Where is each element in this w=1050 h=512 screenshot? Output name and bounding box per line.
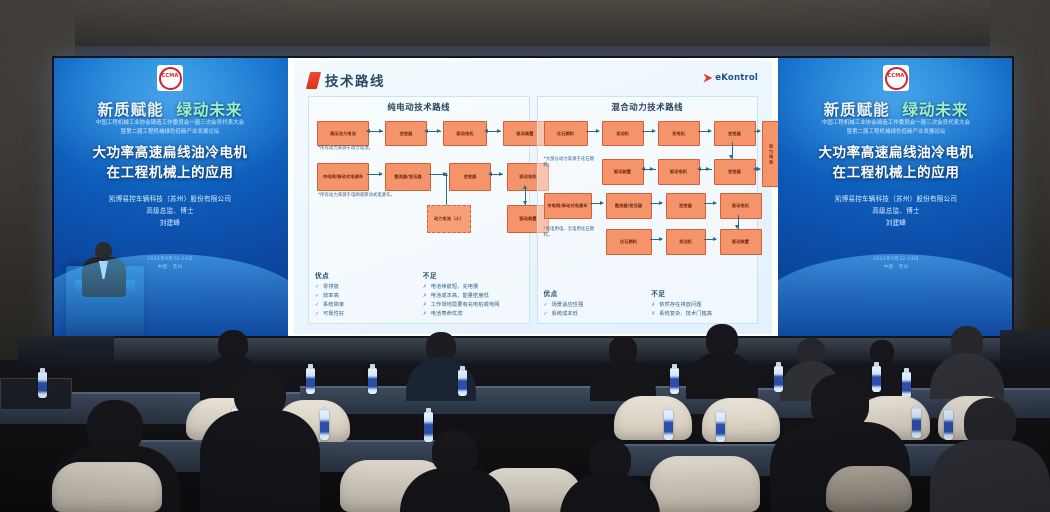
flow-box: 逆变器 (385, 121, 427, 146)
list-item: ✓效率高 (315, 292, 415, 301)
cons-heading: 不足 (423, 270, 523, 280)
slide-panel-pure-electric: 纯电动技术路线 高压动力电池 逆变器 驱动电机 驱动装置 (308, 96, 530, 324)
event-headline-right: 新质赋能 绿动未来 (778, 98, 1014, 120)
flow-box: 逆变器 (449, 163, 491, 191)
water-bottle (368, 368, 377, 394)
headline-part2-left: 绿动未来 (176, 101, 242, 119)
audience-person-foreground (930, 398, 1050, 512)
list-item: ✗电池成本高、能量密度低 (423, 292, 523, 301)
water-bottle (458, 370, 467, 396)
speaker-role-right: 高级总监、博士 (784, 205, 1008, 215)
event-date-right: 2024年9月22-24日 (778, 256, 1014, 262)
talk-title-line1-right: 大功率高速扁线油冷电机 (818, 145, 973, 161)
audience-person-foreground (200, 368, 320, 512)
pros-heading: 优点 (544, 288, 644, 298)
panel-heading-hybrid: 混合动力技术路线 (544, 101, 752, 113)
flow-box: 整流器/变压器 (385, 163, 431, 191)
flow-note: *所有动力来源于电网或移动式电源车。 (318, 193, 413, 199)
flow-box: 高压动力电池 (317, 121, 369, 146)
talk-title-line2-left: 在工程机械上的应用 (107, 165, 234, 181)
list-item: ✗系统复杂、技术门槛高 (651, 310, 751, 319)
slide-title-mark-icon (306, 72, 321, 89)
side-panel-left: CCMA 新质赋能 绿动未来 中国工程机械工业协会铸造工作委员会一届三次会员代表… (52, 56, 288, 338)
chair (52, 462, 162, 512)
list-item: ✗工作场地需要有充电桩或电网 (423, 301, 523, 310)
speaker-silhouette (82, 242, 126, 294)
flow-box: 驱动装置 (720, 229, 762, 255)
talk-title-right: 大功率高速扁线油冷电机 在工程机械上的应用 (778, 144, 1014, 183)
flow-note: *所有动力来源于动力电池。 (318, 146, 373, 152)
speaker-role-left: 高级总监、博士 (58, 205, 282, 215)
list-item: ✗电池续航短、充电慢 (423, 283, 523, 292)
side-panel-right: CCMA 新质赋能 绿动未来 中国工程机械工业协会铸造工作委员会一届三次会员代表… (778, 56, 1014, 338)
headline-part1-left: 新质赋能 (98, 101, 164, 119)
led-screen: CCMA 新质赋能 绿动未来 中国工程机械工业协会铸造工作委员会一届三次会员代表… (52, 56, 1014, 338)
audience-person (686, 324, 758, 396)
cons-column: 不足 ✗电池续航短、充电慢 ✗电池成本高、能量密度低 ✗工作场地需要有充电桩或电… (423, 270, 523, 319)
chair (614, 396, 692, 440)
cons-heading: 不足 (651, 288, 751, 298)
audience-person (930, 326, 1004, 396)
stage-monitor (18, 336, 114, 370)
flow-pure-electric: 高压动力电池 逆变器 驱动电机 驱动装置 *所有动力来源于动力电池 (315, 117, 523, 255)
list-item: ✓系统简单 (315, 301, 415, 310)
slide-panel-hybrid: 混合动力技术路线 化石燃料 发动机 发电机 逆变器 动力电池 (537, 96, 759, 324)
event-place-left: 中国 · 苏州 (52, 264, 288, 270)
ccma-logo-text-left: CCMA (161, 69, 180, 83)
event-subtitle2-left: 暨第二届工程机械绿色低碳产业发展论坛 (60, 128, 280, 136)
ccma-logo-left: CCMA (157, 65, 183, 91)
flow-hybrid: 化石燃料 发动机 发电机 逆变器 动力电池 驱动装置 (544, 117, 752, 255)
pros-column: 优点 ✓场景适应性强 ✓系统成本低 (544, 288, 644, 319)
talk-title-left: 大功率高速扁线油冷电机 在工程机械上的应用 (52, 144, 288, 183)
speaker-org-right: 凯博易控车辆科技（苏州）股份有限公司 (784, 193, 1008, 203)
ekontrol-wordmark: eKontrol (715, 73, 758, 83)
chair (702, 398, 780, 442)
flow-box: 逆变器 (666, 193, 706, 219)
ccma-logo-text-right: CCMA (887, 69, 906, 83)
event-headline-left: 新质赋能 绿动未来 (52, 98, 288, 120)
list-item: ✓场景适应性强 (544, 301, 644, 310)
flow-note: *大部分动力来源于化石燃料。 (544, 157, 596, 169)
event-subtitle1-right: 中国工程机械工业协会铸造工作委员会一届三次会员代表大会 (786, 119, 1006, 127)
ccma-logo-right: CCMA (883, 65, 909, 91)
water-bottle (716, 412, 725, 442)
audience-person (590, 336, 656, 396)
pros-column: 优点 ✓零排放 ✓效率高 ✓系统简单 ✓可靠性好 (315, 270, 415, 319)
audience-person-foreground (560, 440, 660, 512)
water-bottle (670, 368, 679, 394)
flow-box: 发电机 (658, 121, 700, 146)
headline-part2-right: 绿动未来 (902, 101, 968, 119)
conference-photo: CCMA 新质赋能 绿动未来 中国工程机械工业协会铸造工作委员会一届三次会员代表… (0, 0, 1050, 512)
ekontrol-logo: eKontrol (703, 73, 758, 83)
flow-box: 驱动装置 (602, 159, 644, 185)
event-subtitle2-right: 暨第二届工程机械绿色低碳产业发展论坛 (786, 128, 1006, 136)
podium (66, 266, 144, 338)
flow-box: 逆变器 (714, 159, 756, 185)
presentation-slide: 技术路线 eKontrol 纯电动技术路线 高压动力电池 (288, 56, 778, 338)
list-item: ✗依然存在排放问题 (651, 301, 751, 310)
chair (650, 456, 760, 512)
flow-box: 化石燃料 (544, 121, 588, 146)
flow-box: 市电网/移动式电源车 (544, 193, 592, 219)
flow-box: 驱动电机 (720, 193, 762, 219)
slide-title: 技术路线 (308, 70, 385, 90)
list-item: ✗电池寿命忧虑 (423, 310, 523, 319)
talk-title-line1-left: 大功率高速扁线油冷电机 (92, 145, 247, 161)
flow-box: 驱动电机 (658, 159, 700, 185)
chair (826, 466, 912, 512)
flow-box: 化石燃料 (606, 229, 652, 255)
water-bottle (664, 410, 673, 440)
audience-person-foreground (400, 430, 510, 512)
pros-cons-pure-electric: 优点 ✓零排放 ✓效率高 ✓系统简单 ✓可靠性好 不足 (315, 270, 523, 319)
flow-box: 发动机 (602, 121, 644, 146)
ceiling (0, 0, 1050, 46)
list-item: ✓系统成本低 (544, 310, 644, 319)
flow-box: 发动机 (666, 229, 706, 255)
flow-box: 驱动电机 (443, 121, 487, 146)
event-subtitle1-left: 中国工程机械工业协会铸造工作委员会一届三次会员代表大会 (60, 119, 280, 127)
pros-cons-hybrid: 优点 ✓场景适应性强 ✓系统成本低 不足 ✗依然存在排放问题 (544, 288, 752, 319)
list-item: ✓可靠性好 (315, 310, 415, 319)
talk-title-line2-right: 在工程机械上的应用 (833, 165, 960, 181)
water-bottle (38, 372, 47, 398)
slide-title-text: 技术路线 (325, 70, 385, 90)
flow-note: *有电用电、无电用化石燃料。 (544, 227, 598, 239)
speaker-org-left: 凯博易控车辆科技（苏州）股份有限公司 (58, 193, 282, 203)
flow-box: 市电网/移动式电源车 (317, 163, 369, 191)
headline-part1-right: 新质赋能 (824, 101, 890, 119)
flow-box: 整流器/变压器 (606, 193, 652, 219)
speaker-name-left: 刘建峰 (58, 217, 282, 227)
speaker-name-right: 刘建峰 (784, 217, 1008, 227)
flow-box: 逆变器 (714, 121, 756, 146)
cons-column: 不足 ✗依然存在排放问题 ✗系统复杂、技术门槛高 (651, 288, 751, 319)
water-bottle (912, 408, 921, 438)
flow-box-dashed: 动力电池（小） (427, 205, 471, 233)
water-bottle (320, 410, 329, 440)
panel-heading-pure-electric: 纯电动技术路线 (315, 101, 523, 113)
pros-heading: 优点 (315, 270, 415, 280)
list-item: ✓零排放 (315, 283, 415, 292)
event-place-right: 中国 · 苏州 (778, 264, 1014, 270)
stage-monitor-right (1000, 330, 1050, 370)
ekontrol-play-icon (703, 74, 712, 83)
